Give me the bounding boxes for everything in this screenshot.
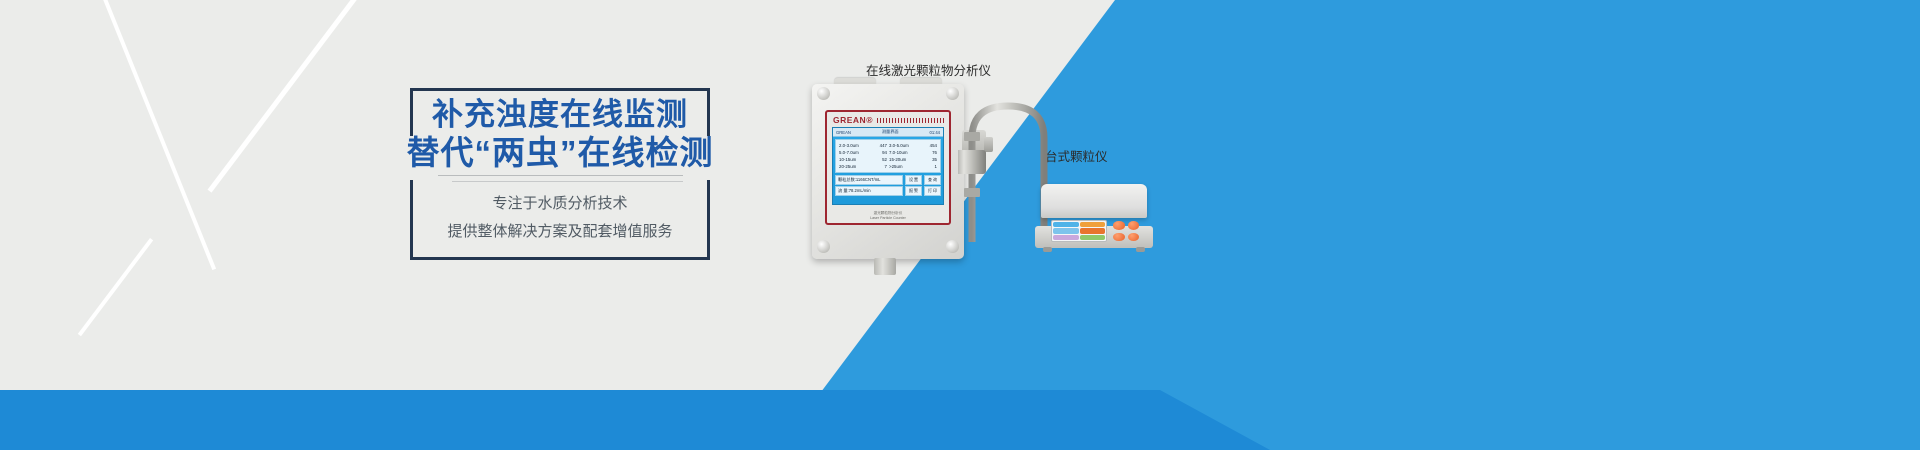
bench-foot-left: [1043, 247, 1052, 252]
lcd-value-a: 447: [871, 142, 887, 149]
lcd-range-b: 7.0-10um: [889, 149, 919, 156]
headline-line-1: 补充浊度在线监测: [400, 96, 720, 134]
lcd-button-settings[interactable]: 设 置: [905, 175, 922, 185]
lcd-value-a: 94: [871, 149, 887, 156]
lcd-total-count-field: 颗粒总数:1166CNT/mL: [835, 175, 903, 185]
lcd-data-row: 20-25um 7 >25um 1: [839, 163, 937, 170]
lcd-button-alarm[interactable]: 报 警: [905, 186, 922, 196]
bench-key-2[interactable]: [1128, 221, 1140, 230]
online-laser-particle-analyzer: GREAN® GREAN 测量界面 01:44 2.0-3.0um 447 3.…: [812, 84, 964, 259]
panel-tile-3: [1053, 228, 1079, 233]
analyzer-brand-text: GREAN®: [833, 115, 873, 125]
lcd-value-b: 1: [921, 163, 937, 170]
panel-tile-1: [1053, 222, 1079, 227]
subtitle: 专注于水质分析技术 提供整体解决方案及配套增值服务: [400, 190, 720, 246]
lcd-range-b: 3.0-5.0um: [889, 142, 919, 149]
lcd-title-left: GREAN: [836, 130, 851, 135]
lcd-value-a: 7: [871, 163, 887, 170]
lcd-range-a: 5.0-7.0um: [839, 149, 869, 156]
divider-line-1: [438, 175, 683, 176]
lcd-title-center: 测量界面: [882, 129, 899, 135]
lcd-range-a: 20-25um: [839, 163, 869, 170]
lcd-title-bar: GREAN 测量界面 01:44: [833, 128, 943, 137]
panel-tile-5: [1053, 235, 1079, 240]
lcd-value-b: 76: [921, 149, 937, 156]
analyzer-hatch-decor: [877, 118, 944, 123]
bench-foot-right: [1136, 247, 1145, 252]
frame-edge-bottom: [410, 257, 710, 260]
panel-tile-6: [1080, 235, 1106, 240]
lcd-range-b: 15-20um: [889, 156, 919, 163]
headline-divider-group: [438, 175, 683, 182]
lcd-range-a: 2.0-3.0um: [839, 142, 869, 149]
banner-stage: 补充浊度在线监测 替代“两虫”在线检测 专注于水质分析技术 提供整体解决方案及配…: [0, 0, 1920, 450]
subtitle-line-2: 提供整体解决方案及配套增值服务: [400, 218, 720, 246]
bench-key-3[interactable]: [1113, 233, 1125, 242]
analyzer-lcd-screen[interactable]: GREAN 测量界面 01:44 2.0-3.0um 447 3.0-5.0um…: [832, 127, 944, 205]
lcd-data-row: 5.0-7.0um 94 7.0-10um 76: [839, 149, 937, 156]
bench-keypad[interactable]: [1113, 221, 1139, 241]
subtitle-line-1: 专注于水质分析技术: [400, 190, 720, 218]
lcd-data-row: 10-15um 52 15-20um 35: [839, 156, 937, 163]
headline-line-2: 替代“两虫”在线检测: [400, 134, 720, 172]
analyzer-screw-top-left: [817, 87, 830, 100]
lcd-data-grid: 2.0-3.0um 447 3.0-5.0um 454 5.0-7.0um 94…: [835, 139, 941, 173]
bench-key-4[interactable]: [1128, 233, 1140, 242]
lcd-data-row: 2.0-3.0um 447 3.0-5.0um 454: [839, 142, 937, 149]
lcd-range-a: 10-15um: [839, 156, 869, 163]
label-online-analyzer: 在线激光颗粒物分析仪: [866, 60, 991, 79]
analyzer-enclosure: GREAN® GREAN 测量界面 01:44 2.0-3.0um 447 3.…: [812, 84, 964, 259]
divider-line-2: [452, 181, 683, 182]
analyzer-screw-bottom-left: [817, 240, 830, 253]
benchtop-particle-counter: [1035, 184, 1153, 248]
lcd-range-b: >25um: [889, 163, 919, 170]
lcd-title-right: 01:44: [930, 130, 940, 135]
lcd-button-query[interactable]: 查 询: [924, 175, 941, 185]
bench-base-housing: [1035, 226, 1153, 248]
lcd-button-print[interactable]: 打 印: [924, 186, 941, 196]
panel-tile-4: [1080, 228, 1106, 233]
lcd-value-a: 52: [871, 156, 887, 163]
bench-control-panel[interactable]: [1051, 220, 1107, 242]
lcd-status-bar-1: 颗粒总数:1166CNT/mL 设 置 查 询: [835, 175, 941, 185]
lcd-value-b: 35: [921, 156, 937, 163]
panel-tile-2: [1080, 222, 1106, 227]
bench-key-1[interactable]: [1113, 221, 1125, 230]
analyzer-foot-label-en: Laser Particle Counter: [827, 216, 949, 221]
lcd-value-b: 454: [921, 142, 937, 149]
frame-edge-top: [410, 88, 710, 91]
lcd-status-bar-2: 流 量:78.2mL/min 报 警 打 印: [835, 186, 941, 196]
analyzer-foot-label: 激光颗粒物分析仪 Laser Particle Counter: [827, 211, 949, 221]
lcd-flow-rate-field: 流 量:78.2mL/min: [835, 186, 903, 196]
bench-upper-housing: [1041, 184, 1147, 218]
analyzer-front-bezel: GREAN® GREAN 测量界面 01:44 2.0-3.0um 447 3.…: [825, 110, 951, 225]
headline: 补充浊度在线监测 替代“两虫”在线检测: [400, 96, 720, 172]
analyzer-cable-gland: [874, 258, 896, 275]
